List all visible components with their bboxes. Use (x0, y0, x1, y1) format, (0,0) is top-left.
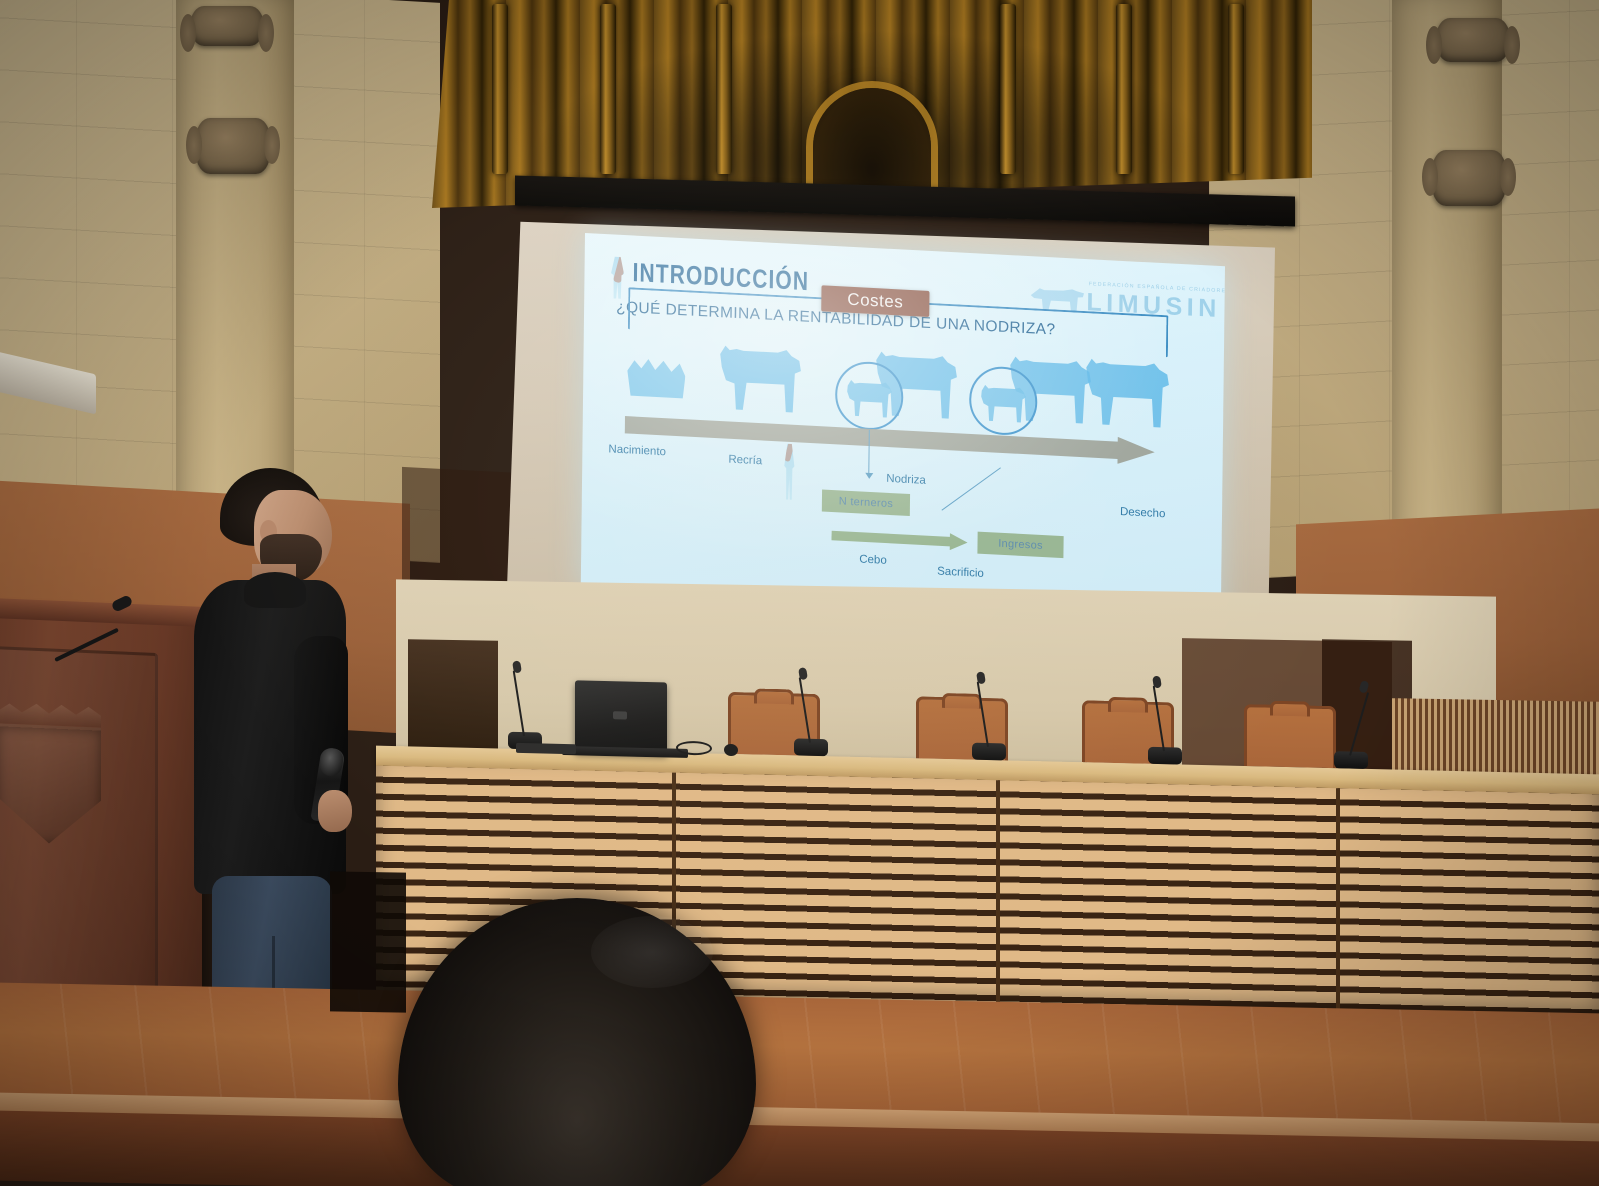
carved-stone-crest-icon (196, 118, 270, 174)
stone-pilaster-right (1392, 0, 1502, 552)
presenter-hand (318, 790, 352, 832)
altarpiece-column (1000, 4, 1016, 174)
altarpiece-column (1116, 4, 1132, 174)
table-panel-seam (996, 780, 1000, 1010)
microphone-base (972, 743, 1006, 761)
altarpiece-column (1228, 4, 1244, 174)
connector-line (941, 467, 1001, 511)
stage-label-nodriza: Nodriza (886, 473, 926, 487)
coat-of-arms-icon (0, 723, 101, 845)
altarpiece-column (716, 4, 732, 174)
microphone-base (794, 738, 828, 756)
crown-icon (0, 701, 101, 727)
stockman-person-icon (608, 256, 627, 299)
cable (516, 743, 576, 754)
microphone-base (1148, 747, 1182, 765)
lectern-microphone (56, 596, 126, 662)
carved-stone-crest-icon (1436, 18, 1510, 62)
lectern-front-panel (0, 646, 158, 1023)
carved-stone-crest-icon (190, 6, 264, 46)
flow-label-sacrificio: Sacrificio (937, 566, 984, 580)
n-terneros-box: N terneros (822, 489, 910, 516)
birth-calf-icon (627, 351, 686, 402)
projected-slide: INTRODUCCIÓN ¿QUÉ DETERMINA LA RENTABILI… (581, 233, 1225, 621)
altarpiece-column (492, 4, 508, 174)
altarpiece-column (600, 4, 616, 174)
flow-label-cebo: Cebo (859, 553, 887, 566)
stockman-person-icon (782, 443, 797, 500)
ingresos-box: Ingresos (977, 532, 1063, 558)
cow-icon (1083, 351, 1172, 430)
presenter-laptop[interactable] (575, 680, 667, 754)
costs-label-box: Costes (821, 285, 929, 317)
feed-bag-icon (613, 252, 628, 283)
presenter-turtleneck-collar (244, 572, 306, 608)
foreground-shadow (330, 871, 406, 1012)
cebo-sacrificio-arrow (831, 527, 967, 551)
cow-icon (717, 338, 804, 414)
conference-hall-photo: INTRODUCCIÓN ¿QUÉ DETERMINA LA RENTABILI… (0, 0, 1599, 1186)
carved-stone-crest-icon (1432, 150, 1506, 206)
desk-object (724, 744, 738, 756)
stage-label-recria: Recría (728, 454, 762, 468)
table-panel-seam (1336, 788, 1340, 1018)
panel-chair (1244, 704, 1336, 768)
stage-label-nacimiento: Nacimiento (608, 443, 666, 458)
feed-bag-icon (784, 439, 795, 462)
stage-label-desecho: Desecho (1120, 506, 1166, 520)
microphone-arm (54, 628, 119, 662)
stone-pilaster-left (176, 0, 294, 523)
connector-line (868, 430, 870, 474)
